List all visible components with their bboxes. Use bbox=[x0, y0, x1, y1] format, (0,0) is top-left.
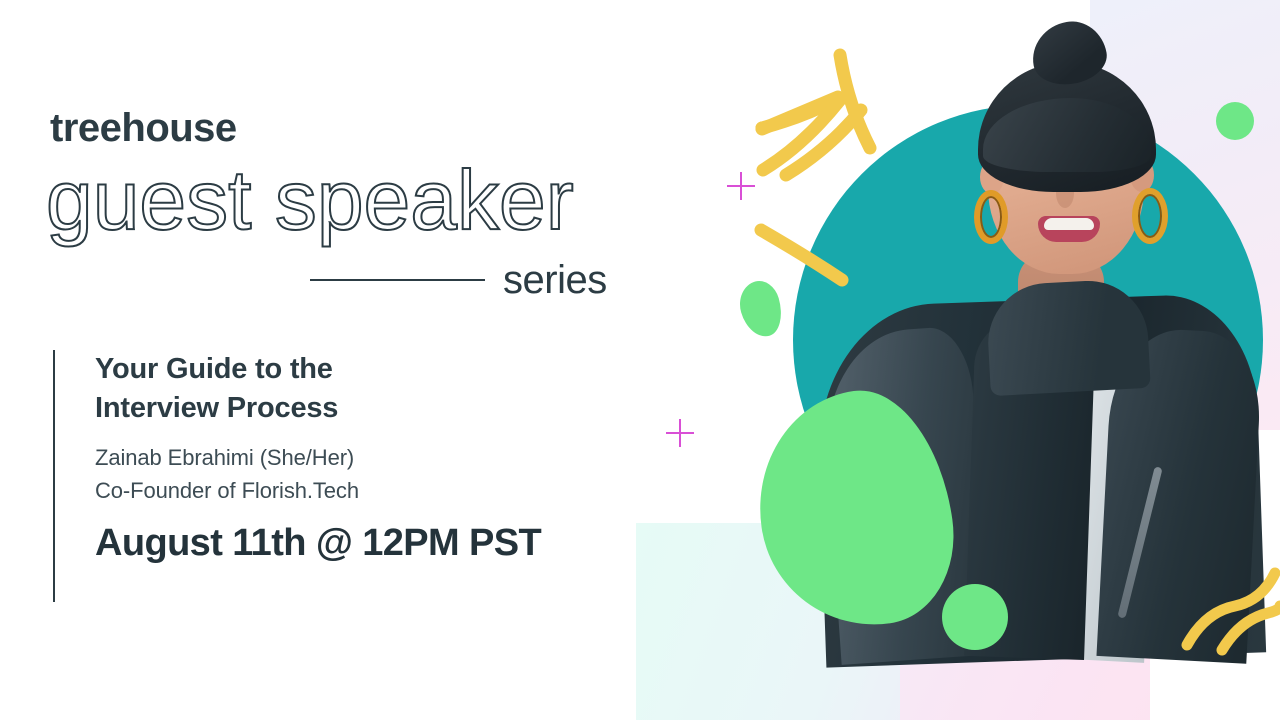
portrait-mouth bbox=[1038, 216, 1100, 242]
portrait-shirt bbox=[1024, 357, 1160, 663]
portrait-earring-right bbox=[1132, 188, 1168, 244]
portrait-hair-sweep bbox=[983, 98, 1151, 172]
teal-circle-decoration bbox=[793, 105, 1263, 575]
portrait-ear-left bbox=[980, 160, 1004, 194]
background-panel-bottom-right bbox=[900, 600, 1200, 720]
portrait-hair-bun bbox=[1027, 16, 1111, 90]
yellow-squiggle-icon bbox=[1187, 573, 1280, 650]
green-circle-bottom-decoration bbox=[942, 584, 1008, 650]
slide-headline: guest speaker bbox=[46, 158, 574, 242]
portrait-eye-left bbox=[1020, 163, 1042, 174]
series-divider-rule bbox=[310, 279, 485, 281]
green-circle-top-right-decoration bbox=[1216, 102, 1254, 140]
green-blob-small-decoration bbox=[734, 277, 788, 342]
portrait-jacket-zipper bbox=[1117, 466, 1162, 618]
portrait-jacket-lapel-right bbox=[1096, 326, 1263, 663]
background-panel-bottom-center bbox=[636, 523, 1136, 720]
background-panel-corner-white bbox=[1150, 575, 1280, 720]
portrait-jacket bbox=[814, 292, 1266, 667]
portrait-eyebrow-left bbox=[1013, 143, 1054, 155]
speaker-name: Zainab Ebrahimi (She/Her) bbox=[95, 441, 541, 474]
portrait-eyebrow-right bbox=[1078, 143, 1119, 154]
magenta-plus-lower-icon bbox=[666, 419, 694, 447]
magenta-plus-upper-icon bbox=[727, 172, 755, 200]
portrait-teeth bbox=[1044, 218, 1094, 230]
series-row: series bbox=[310, 258, 625, 302]
event-info-block: Your Guide to the Interview Process Zain… bbox=[53, 350, 541, 602]
portrait-earring-left bbox=[974, 190, 1008, 244]
background-panel-top-right bbox=[1090, 0, 1280, 430]
portrait-face bbox=[988, 78, 1144, 274]
green-blob-large-decoration bbox=[745, 380, 966, 639]
portrait-neck bbox=[1018, 252, 1104, 362]
presentation-slide: treehouse guest speaker series Your Guid… bbox=[0, 0, 1280, 720]
portrait-jacket-lapel-left bbox=[964, 316, 1096, 660]
series-label: series bbox=[503, 260, 607, 300]
portrait-nose bbox=[1056, 178, 1074, 208]
portrait-hair bbox=[978, 62, 1156, 192]
event-date: August 11th @ 12PM PST bbox=[95, 523, 541, 565]
speaker-portrait-image bbox=[820, 0, 1280, 660]
speaker-role: Co-Founder of Florish.Tech bbox=[95, 474, 541, 507]
portrait-jacket-left-sleeve bbox=[819, 325, 992, 665]
portrait-jacket-collar bbox=[985, 278, 1151, 396]
slide-content-column: treehouse guest speaker series Your Guid… bbox=[0, 0, 660, 720]
treehouse-brand-wordmark: treehouse bbox=[50, 108, 237, 148]
portrait-eye-right bbox=[1088, 163, 1110, 174]
portrait-ear-right bbox=[1130, 158, 1154, 192]
talk-title: Your Guide to the Interview Process bbox=[95, 350, 425, 427]
